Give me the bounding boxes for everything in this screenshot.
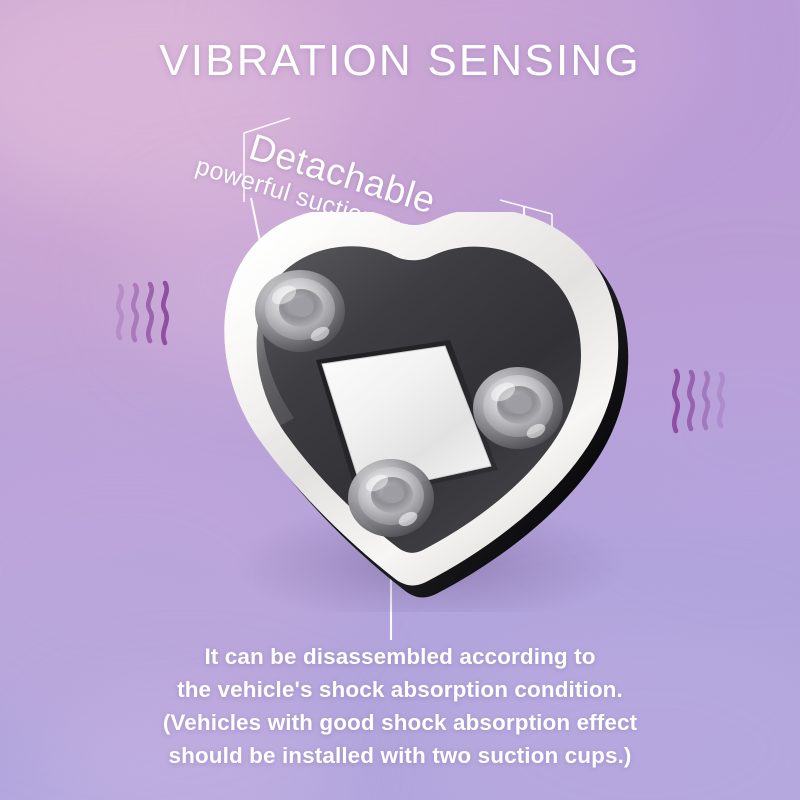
caption-line-2: the vehicle's shock absorption condition… xyxy=(0,673,800,706)
suction-cup-right xyxy=(473,367,563,449)
caption-line-3: (Vehicles with good shock absorption eff… xyxy=(0,706,800,739)
heart-shaped-vibration-sensor xyxy=(198,212,648,612)
page-title: VIBRATION SENSING xyxy=(0,36,800,86)
vibration-waves-icon xyxy=(112,278,174,352)
product-description: It can be disassembled according to the … xyxy=(0,640,800,772)
caption-line-1: It can be disassembled according to xyxy=(0,640,800,673)
caption-line-4: should be installed with two suction cup… xyxy=(0,739,800,772)
suction-cup-top-left xyxy=(255,270,345,352)
product-marketing-image: VIBRATION SENSING Detachable powerful su… xyxy=(0,0,800,800)
vibration-waves-icon xyxy=(668,366,730,440)
suction-cup-bottom xyxy=(348,459,434,537)
